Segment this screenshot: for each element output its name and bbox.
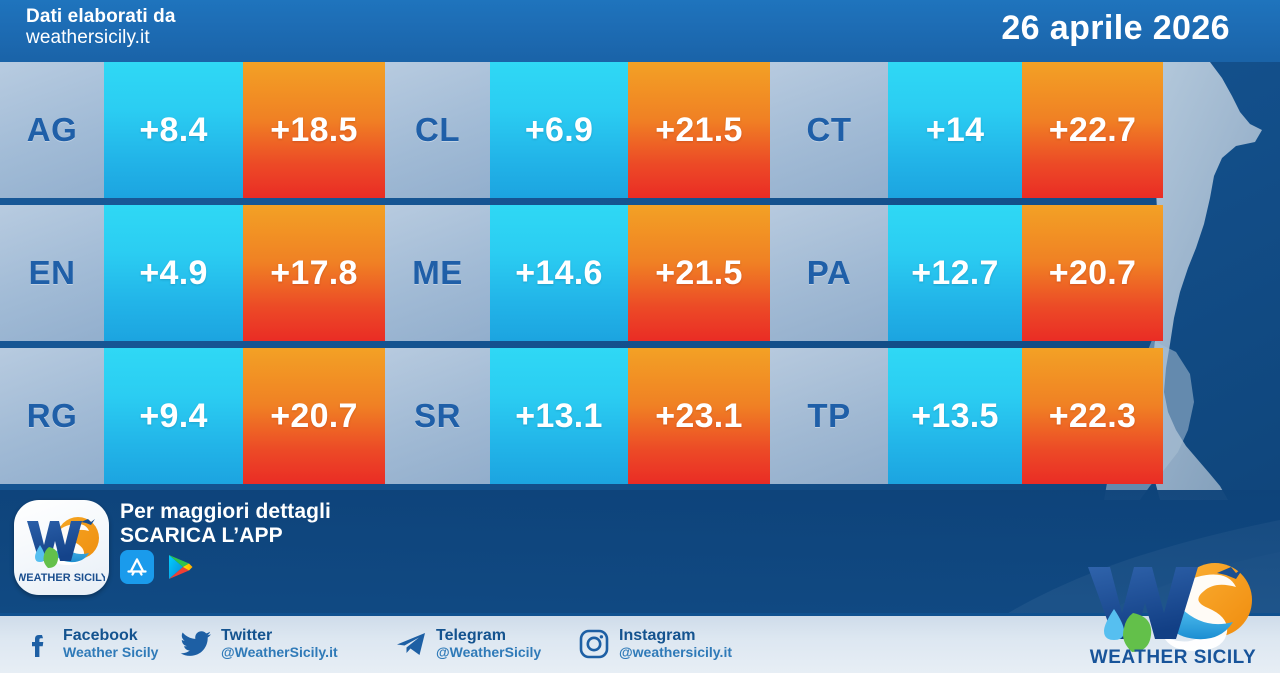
instagram-handle: @weathersicily.it	[619, 645, 732, 661]
temp-max-cl: +21.5	[628, 62, 770, 198]
temp-min-ag: +8.4	[104, 62, 243, 198]
table-row: EN +4.9 +17.8 ME +14.6 +21.5 PA +12.7 +2…	[0, 205, 1280, 341]
page-date: 26 aprile 2026	[1001, 9, 1230, 48]
province-code-me: ME	[385, 205, 490, 341]
province-code-ag: AG	[0, 62, 104, 198]
province-temperature-grid: AG +8.4 +18.5 CL +6.9 +21.5 CT +14 +22.7…	[0, 62, 1280, 490]
temp-max-ct: +22.7	[1022, 62, 1163, 198]
temp-max-me: +21.5	[628, 205, 770, 341]
promo-text: Per maggiori dettagli SCARICA L’APP	[120, 500, 331, 549]
social-link-instagram[interactable]: Instagram @weathersicily.it	[578, 627, 732, 661]
app-icon[interactable]: WEATHER SICILY	[14, 500, 109, 595]
social-link-telegram[interactable]: Telegram @WeatherSicily	[395, 627, 541, 661]
province-code-rg: RG	[0, 348, 104, 484]
temp-min-rg: +9.4	[104, 348, 243, 484]
telegram-label: Telegram	[436, 627, 541, 645]
temp-max-pa: +20.7	[1022, 205, 1163, 341]
logo-subtitle-text: WEATHER SICILY	[1090, 647, 1256, 667]
promo-line1: Per maggiori dettagli	[120, 500, 331, 524]
temp-min-me: +14.6	[490, 205, 628, 341]
instagram-label: Instagram	[619, 627, 732, 645]
weather-infographic: Dati elaborati da weathersicily.it 26 ap…	[0, 0, 1280, 673]
province-code-cl: CL	[385, 62, 490, 198]
data-source-line1: Dati elaborati da	[26, 7, 176, 28]
province-code-tp: TP	[770, 348, 888, 484]
twitter-icon	[180, 628, 212, 660]
temp-min-pa: +12.7	[888, 205, 1022, 341]
facebook-label: Facebook	[63, 627, 158, 645]
province-code-ct: CT	[770, 62, 888, 198]
facebook-handle: Weather Sicily	[63, 645, 158, 661]
temp-max-tp: +22.3	[1022, 348, 1163, 484]
app-store-badge[interactable]	[120, 550, 154, 589]
twitter-handle: @WeatherSicily.it	[221, 645, 338, 661]
google-play-badge[interactable]	[163, 550, 197, 589]
telegram-icon	[395, 628, 427, 660]
header-bar: Dati elaborati da weathersicily.it 26 ap…	[0, 0, 1280, 62]
temp-min-sr: +13.1	[490, 348, 628, 484]
twitter-label: Twitter	[221, 627, 338, 645]
data-source: Dati elaborati da weathersicily.it	[26, 7, 176, 48]
table-row: RG +9.4 +20.7 SR +13.1 +23.1 TP +13.5 +2…	[0, 348, 1280, 484]
temp-max-ag: +18.5	[243, 62, 385, 198]
telegram-handle: @WeatherSicily	[436, 645, 541, 661]
social-link-facebook[interactable]: Facebook Weather Sicily	[22, 627, 158, 661]
instagram-icon	[578, 628, 610, 660]
weather-sicily-logo: WEATHER SICILY	[1084, 563, 1262, 667]
temp-min-ct: +14	[888, 62, 1022, 198]
facebook-icon	[22, 628, 54, 660]
province-code-sr: SR	[385, 348, 490, 484]
temp-max-rg: +20.7	[243, 348, 385, 484]
app-icon-subtitle-text: WEATHER SICILY	[19, 572, 105, 584]
temp-min-tp: +13.5	[888, 348, 1022, 484]
temp-max-en: +17.8	[243, 205, 385, 341]
temp-min-en: +4.9	[104, 205, 243, 341]
province-code-en: EN	[0, 205, 104, 341]
data-source-line2: weathersicily.it	[26, 28, 176, 49]
store-badges	[120, 550, 197, 589]
social-link-twitter[interactable]: Twitter @WeatherSicily.it	[180, 627, 338, 661]
province-code-pa: PA	[770, 205, 888, 341]
table-row: AG +8.4 +18.5 CL +6.9 +21.5 CT +14 +22.7	[0, 62, 1280, 198]
promo-line2: SCARICA L’APP	[120, 524, 331, 548]
temp-max-sr: +23.1	[628, 348, 770, 484]
temp-min-cl: +6.9	[490, 62, 628, 198]
